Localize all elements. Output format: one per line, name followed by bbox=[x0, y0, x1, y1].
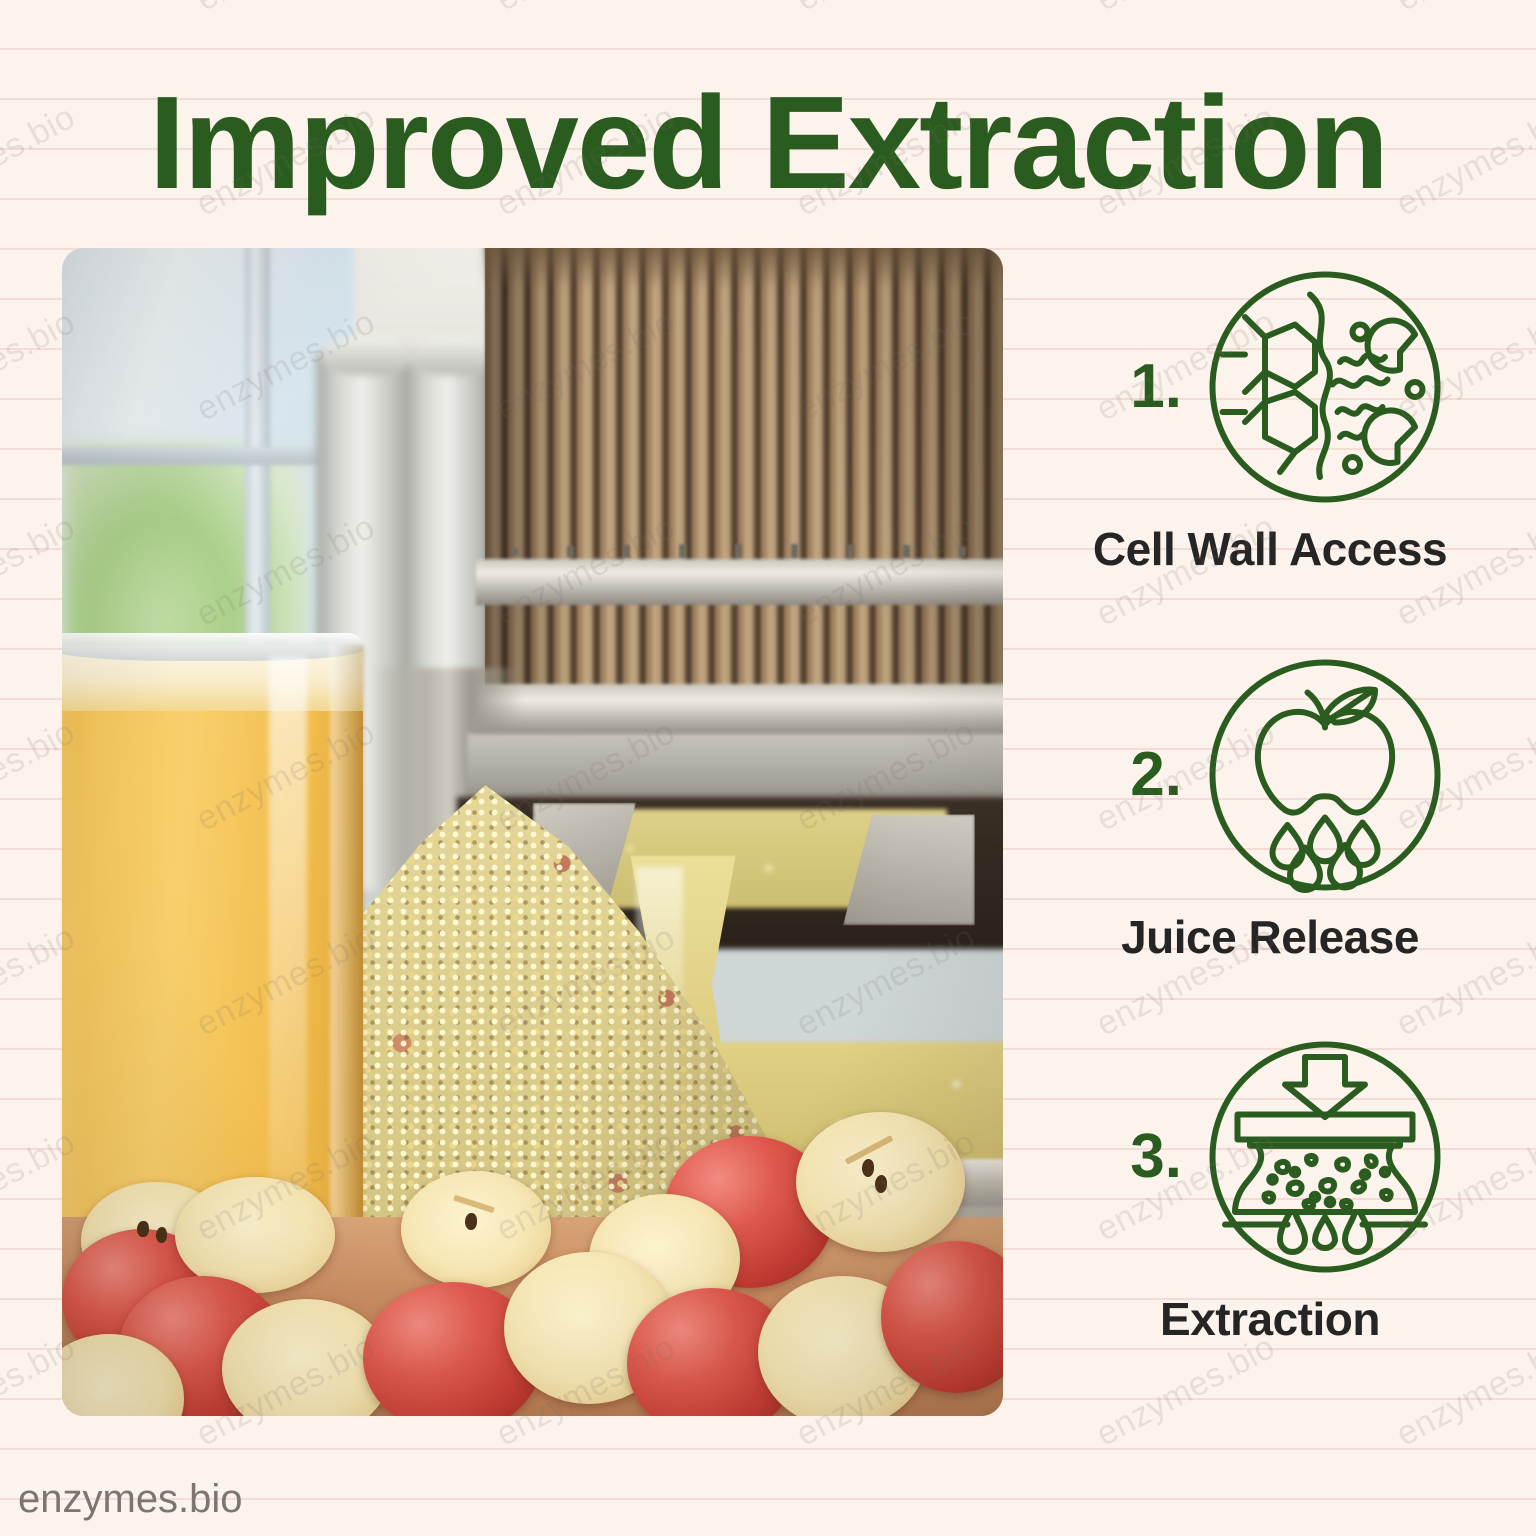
step-label: Cell Wall Access bbox=[1093, 522, 1447, 576]
hero-photo bbox=[62, 248, 1003, 1416]
step-item-juice-release[interactable]: 2. Ju bbox=[1020, 650, 1520, 964]
step-row: 1. bbox=[1020, 262, 1520, 512]
press-extraction-icon bbox=[1200, 1032, 1450, 1282]
photo-vignette bbox=[62, 248, 1003, 1416]
step-row: 3. bbox=[1020, 1032, 1520, 1282]
page-title: Improved Extraction bbox=[0, 76, 1536, 211]
page-title-text: Improved Extraction bbox=[149, 76, 1387, 211]
step-item-extraction[interactable]: 3. bbox=[1020, 1032, 1520, 1346]
step-item-cell-wall-access[interactable]: 1. bbox=[1020, 262, 1520, 576]
cell-wall-enzyme-icon bbox=[1200, 262, 1450, 512]
step-number: 1. bbox=[1090, 356, 1182, 418]
step-label: Extraction bbox=[1160, 1292, 1380, 1346]
step-row: 2. bbox=[1020, 650, 1520, 900]
step-number: 3. bbox=[1090, 1126, 1182, 1188]
apple-droplets-icon bbox=[1200, 650, 1450, 900]
steps-list: 1. bbox=[1020, 262, 1520, 1422]
step-number: 2. bbox=[1090, 744, 1182, 806]
footer-brand: enzymes.bio bbox=[18, 1477, 243, 1522]
step-label: Juice Release bbox=[1121, 910, 1419, 964]
